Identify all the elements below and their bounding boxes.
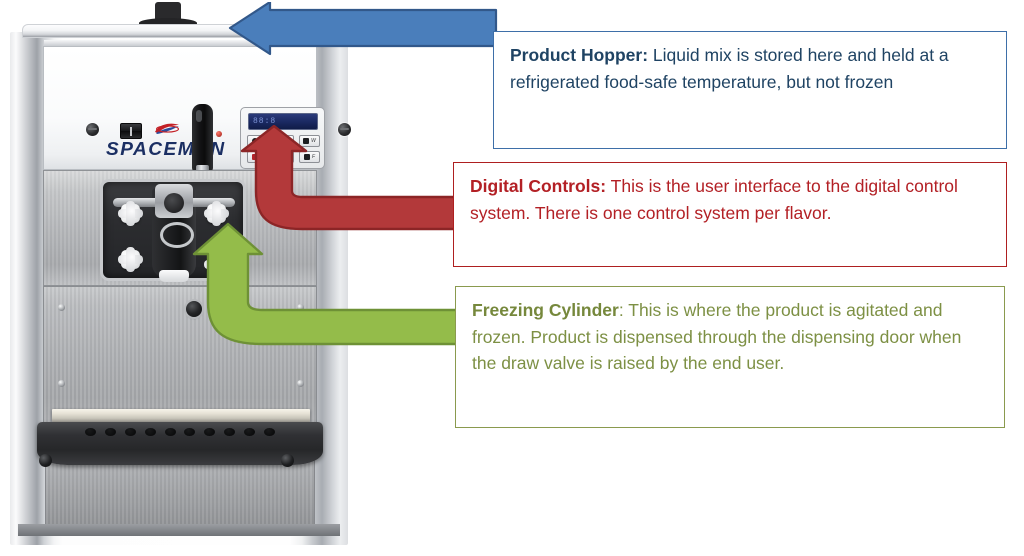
splash-guard: [52, 409, 310, 422]
freezing-cylinder-housing: [43, 170, 317, 286]
down-button[interactable]: ▼: [273, 151, 294, 163]
panel-fastener-3-icon: [58, 380, 65, 387]
spaceman-logo-icon: [154, 121, 180, 136]
door-knob-top-left[interactable]: [121, 204, 140, 223]
callout-digital-controls-lead: Digital Controls:: [470, 176, 606, 196]
callout-freezing-cylinder-text: Freezing Cylinder: This is where the pro…: [472, 297, 990, 377]
callout-freezing-cylinder-lead: Freezing Cylinder: [472, 300, 619, 320]
hopper-lid-handle-icon: [155, 2, 181, 26]
callout-digital-controls: Digital Controls: This is the user inter…: [453, 162, 1007, 267]
upper-front-panel: SPACEMAN 88:8 A C W S ▼ F: [43, 46, 317, 170]
drip-tray-grate: [85, 427, 275, 436]
base-bolt-right-icon: [281, 454, 294, 467]
hopper-lid: [22, 24, 338, 38]
soft-serve-machine-photo: SPACEMAN 88:8 A C W S ▼ F: [10, 24, 348, 545]
control-button-row-top: A C W: [247, 135, 320, 147]
panel-fastener-1-icon: [58, 304, 65, 311]
stop-button[interactable]: S: [247, 151, 268, 163]
digital-display: 88:8: [248, 113, 318, 130]
callout-freezing-cylinder: Freezing Cylinder: This is where the pro…: [455, 286, 1005, 428]
slide-canvas: SPACEMAN 88:8 A C W S ▼ F: [0, 0, 1024, 556]
digital-display-value: 88:8: [249, 114, 317, 126]
callout-product-hopper-text: Product Hopper: Liquid mix is stored her…: [510, 42, 992, 95]
door-knob-top-right[interactable]: [207, 204, 226, 223]
valve-retainer-ring-icon: [160, 222, 194, 248]
status-led-icon: [216, 131, 222, 137]
panel-fastener-2-icon: [297, 304, 304, 311]
base-bolt-left-icon: [39, 454, 52, 467]
power-rocker-switch[interactable]: [120, 123, 142, 139]
draw-valve-handle[interactable]: [192, 104, 213, 172]
fahrenheit-button[interactable]: F: [299, 151, 320, 163]
callout-digital-controls-text: Digital Controls: This is the user inter…: [470, 173, 992, 226]
callout-product-hopper-lead: Product Hopper:: [510, 45, 648, 65]
nozzle-tip: [159, 270, 189, 282]
panel-screw-right-icon: [338, 123, 351, 136]
digital-control-panel[interactable]: 88:8 A C W S ▼ F: [240, 107, 325, 169]
door-knob-bottom-left[interactable]: [121, 250, 140, 269]
clean-button[interactable]: C: [273, 135, 294, 147]
door-knob-bottom-right[interactable]: [207, 255, 226, 274]
drain-port-icon: [186, 301, 202, 317]
wash-button[interactable]: W: [299, 135, 320, 147]
panel-fastener-4-icon: [297, 380, 304, 387]
machine-base-shadow: [18, 524, 340, 536]
callout-product-hopper: Product Hopper: Liquid mix is stored her…: [493, 31, 1007, 149]
dispensing-door[interactable]: [100, 179, 246, 281]
auto-button[interactable]: A: [247, 135, 268, 147]
panel-screw-left-icon: [86, 123, 99, 136]
valve-clamp: [155, 184, 193, 218]
control-button-row-bottom: S ▼ F: [247, 151, 320, 163]
